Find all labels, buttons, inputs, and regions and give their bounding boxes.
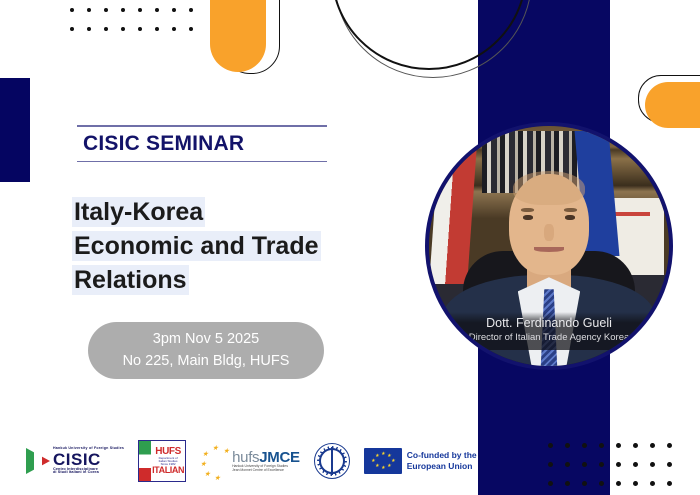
dot: [548, 481, 553, 486]
dot: [87, 27, 91, 31]
dot: [633, 462, 638, 467]
dot: [172, 27, 176, 31]
dot: [565, 462, 570, 467]
dot: [599, 443, 604, 448]
event-venue: No 225, Main Bldg, HUFS: [123, 351, 290, 372]
dot: [650, 481, 655, 486]
dot: [616, 481, 621, 486]
eye-right-shape: [565, 215, 575, 220]
dot: [650, 443, 655, 448]
dot: [138, 27, 142, 31]
nose-shape: [544, 224, 554, 240]
orange-pill-right-decoration: [645, 82, 700, 128]
navy-square-accent: [0, 78, 30, 182]
orange-pill-top-decoration: [210, 0, 266, 72]
seminar-poster: CISIC SEMINAR Italy-Korea Economic and T…: [0, 0, 700, 495]
dot: [633, 443, 638, 448]
dot: [582, 443, 587, 448]
dot: [599, 462, 604, 467]
seal-icon: [314, 443, 350, 479]
speaker-name: Dott. Ferdinando Gueli: [429, 316, 669, 332]
dot-grid-bottom-decoration: [548, 443, 684, 495]
speaker-caption: Dott. Ferdinando Gueli Director of Itali…: [429, 312, 669, 350]
cisic-logo-sub-line-2: di Studi Italiani in Corea: [53, 471, 124, 475]
dot: [633, 481, 638, 486]
dot: [70, 27, 74, 31]
title-line-1: Italy-Korea: [72, 197, 205, 227]
dot: [121, 27, 125, 31]
dot: [104, 27, 108, 31]
title-line-2: Economic and Trade: [72, 231, 321, 261]
dot-grid-top-decoration: [70, 8, 206, 46]
dot: [650, 462, 655, 467]
eu-stars-icon: ★★ ★★ ★★: [200, 444, 230, 478]
jmce-logo-text: hufsJMCE Hankuk University of Foreign St…: [232, 450, 300, 472]
dot: [70, 8, 74, 12]
divider-bottom: [77, 161, 327, 163]
logo-row: Hankuk University of Foreign Studies CIS…: [26, 437, 477, 485]
dot: [138, 8, 142, 12]
cisic-logo: Hankuk University of Foreign Studies CIS…: [26, 447, 124, 475]
dot: [616, 462, 621, 467]
dot: [616, 443, 621, 448]
eyebrow-block: CISIC SEMINAR: [77, 125, 327, 162]
jean-monnet-seal-logo: [314, 443, 350, 479]
eu-cofunded-text: Co-funded by the European Union: [407, 450, 477, 471]
dot: [565, 481, 570, 486]
eu-cofunded-logo: ★★ ★★ ★★ ★★ Co-funded by the European Un…: [364, 448, 477, 474]
dot: [582, 481, 587, 486]
head-shape: [509, 174, 588, 275]
dot: [87, 8, 91, 12]
eyebrow-label: CISIC SEMINAR: [77, 127, 327, 161]
italian-flag-triangle-icon: [26, 448, 50, 474]
eye-left-shape: [523, 215, 533, 220]
dot: [121, 8, 125, 12]
mouth-shape: [534, 247, 564, 252]
eu-cofunded-line-1: Co-funded by the: [407, 450, 477, 461]
dot: [104, 8, 108, 12]
hufs-logo-line-3: ITALIAN: [152, 466, 184, 475]
eyebrow-right-shape: [564, 208, 577, 212]
jmce-logo-sub-2: Jean Monnet Centre of Excellence: [232, 469, 300, 472]
dot: [155, 27, 159, 31]
dot: [667, 443, 672, 448]
dot: [155, 8, 159, 12]
speaker-portrait: Dott. Ferdinando Gueli Director of Itali…: [425, 122, 673, 370]
dot: [582, 462, 587, 467]
dot: [548, 443, 553, 448]
title-line-3: Relations: [72, 265, 189, 295]
event-time: 3pm Nov 5 2025: [153, 329, 259, 350]
seal-inner-ring-icon: [319, 448, 345, 474]
event-details-pill: 3pm Nov 5 2025 No 225, Main Bldg, HUFS: [88, 322, 324, 379]
dot: [189, 8, 193, 12]
dot: [667, 462, 672, 467]
dot: [565, 443, 570, 448]
hufs-italian-department-logo: HUFS Department of Italian Studies Since…: [138, 440, 186, 482]
eu-flag-icon: ★★ ★★ ★★ ★★: [364, 448, 402, 474]
dot: [667, 481, 672, 486]
speaker-role: Director of Italian Trade Agency Korea: [429, 332, 669, 344]
dot: [172, 8, 176, 12]
dot: [599, 481, 604, 486]
dot: [189, 27, 193, 31]
eyebrow-left-shape: [521, 208, 534, 212]
cisic-logo-text: Hankuk University of Foreign Studies CIS…: [53, 447, 124, 475]
page-title: Italy-Korea Economic and Trade Relations: [72, 196, 372, 297]
eu-cofunded-line-2: European Union: [407, 461, 477, 472]
dot: [548, 462, 553, 467]
italian-flag-bar-icon: [139, 441, 151, 481]
cisic-logo-acronym: CISIC: [53, 451, 124, 468]
hufs-jmce-logo: ★★ ★★ ★★ hufsJMCE Hankuk University of F…: [200, 444, 300, 478]
